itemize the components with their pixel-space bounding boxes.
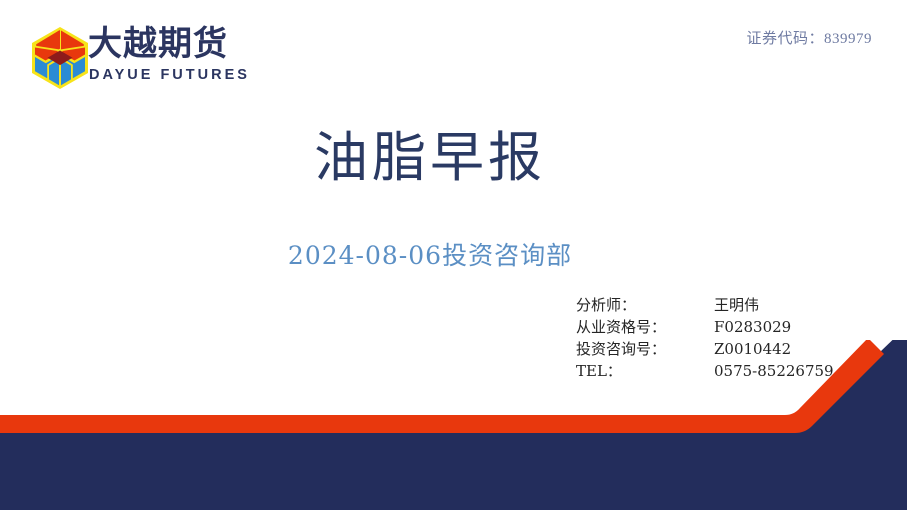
security-code-text: 证券代码：839979 (746, 27, 872, 48)
logo-english-name: DAYUE FUTURES (89, 67, 250, 83)
info-row-qualification: 从业资格号： F0283029 (576, 316, 876, 338)
orange-stripe (0, 340, 884, 433)
page-title: 油脂早报 (0, 126, 860, 190)
page-subtitle-date: 2024-08-06投资咨询部 (0, 240, 860, 272)
info-label: 从业资格号： (576, 316, 714, 338)
info-value: F0283029 (714, 316, 791, 338)
dayue-cube-logo-icon (30, 26, 90, 90)
logo-chinese-name: 大越期货 (88, 23, 228, 65)
info-label: 分析师： (576, 294, 714, 316)
info-value: 王明伟 (714, 294, 759, 316)
bottom-banner (0, 340, 907, 510)
logo-wordmark: 大越期货 DAYUE FUTURES (88, 25, 238, 91)
company-logo: 大越期货 DAYUE FUTURES (30, 25, 240, 93)
info-row-analyst: 分析师： 王明伟 (576, 294, 876, 316)
slide-page: 大越期货 DAYUE FUTURES 证券代码：839979 油脂早报 2024… (0, 0, 907, 510)
